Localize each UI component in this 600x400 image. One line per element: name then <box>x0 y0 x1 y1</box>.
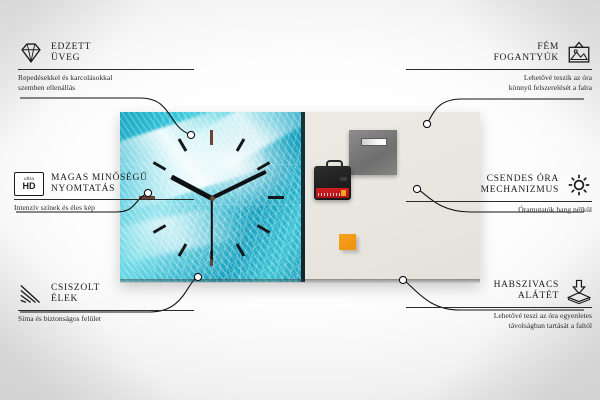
cushion-arrow-icon <box>566 278 592 304</box>
mechanism-dial <box>340 177 347 181</box>
feature-description: Lehetővé teszi az óra egyenletes távolsá… <box>406 311 592 330</box>
mechanism-label-text <box>318 193 340 196</box>
feature-title: EDZETT ÜVEG <box>51 42 91 65</box>
feature-rule <box>406 201 592 202</box>
feature-rule <box>406 69 592 70</box>
feature-header: CSENDES ÓRA MECHANIZMUS <box>406 172 592 198</box>
feature-rule <box>18 69 194 70</box>
glass-seam <box>240 112 241 282</box>
feature-description: Lehetővé teszik az óra könnyű felszerelé… <box>406 73 592 92</box>
feature-header: ultra HD MAGAS MINŐSÉGŰ NYOMTATÁS <box>14 172 194 196</box>
clock-tick-5 <box>236 243 246 257</box>
clock-tick-4 <box>257 224 271 234</box>
feature-header: FÉM FOGANTYÚK <box>406 40 592 66</box>
feature-description: Óramutatók hang nélkül <box>406 205 592 215</box>
clock-mechanism <box>314 166 351 200</box>
ultra-hd-icon: ultra HD <box>14 172 44 196</box>
infographic-canvas: EDZETT ÜVEG Repedésekkel és karcolásokka… <box>0 0 600 400</box>
panel-divider <box>301 112 305 282</box>
feature-foam-pad: HABSZIVACS ALÁTÉT Lehetővé teszi az óra … <box>406 278 592 330</box>
feature-quiet-mechanism: CSENDES ÓRA MECHANIZMUS Óramutatók hang … <box>406 172 592 215</box>
feature-rule <box>406 307 592 308</box>
clock-hub <box>210 196 215 201</box>
feature-header: EDZETT ÜVEG <box>18 40 194 66</box>
clock-tick-10 <box>153 161 167 171</box>
feature-header: CSISZOLT ÉLEK <box>18 281 194 307</box>
feature-rule <box>14 199 194 200</box>
mechanism-label <box>316 188 349 198</box>
clock-tick-11 <box>178 138 188 152</box>
minute-hand <box>211 170 267 200</box>
feature-header: HABSZIVACS ALÁTÉT <box>406 278 592 304</box>
clock-tick-7 <box>178 243 188 257</box>
feature-title: FÉM FOGANTYÚK <box>494 42 559 65</box>
clock-tick-8 <box>153 224 167 234</box>
glass-seam <box>120 164 304 165</box>
diamond-icon <box>18 40 44 66</box>
feature-title: CSISZOLT ÉLEK <box>51 283 100 306</box>
metal-hanger-plate <box>349 130 397 175</box>
feature-title: CSENDES ÓRA MECHANIZMUS <box>481 174 559 197</box>
highlight-streak-2 <box>187 112 304 179</box>
ultra-hd-icon-main: HD <box>23 182 36 191</box>
feature-high-quality-print: ultra HD MAGAS MINŐSÉGŰ NYOMTATÁS Intenz… <box>14 172 194 213</box>
feature-description: Intenzív színek és éles kép <box>14 203 194 213</box>
picture-hanger-icon <box>566 40 592 66</box>
feature-polished-edges: CSISZOLT ÉLEK Sima és biztonságos felüle… <box>18 281 194 324</box>
feature-metal-handles: FÉM FOGANTYÚK Lehetővé teszik az óra kön… <box>406 40 592 92</box>
mechanism-label-mark <box>341 190 346 196</box>
clock-tick-12 <box>210 130 213 145</box>
feature-title: HABSZIVACS ALÁTÉT <box>494 280 559 303</box>
mechanism-hanging-loop <box>326 160 343 170</box>
feature-description: Sima és biztonságos felület <box>18 314 194 324</box>
second-hand <box>211 198 213 260</box>
clock-tick-3 <box>268 196 284 199</box>
hanger-slot <box>361 138 387 146</box>
feature-description: Repedésekkel és karcolásokkal szemben el… <box>18 73 194 92</box>
feature-rule <box>18 310 194 311</box>
gear-icon <box>566 172 592 198</box>
clock-tick-1 <box>236 138 246 152</box>
feature-tempered-glass: EDZETT ÜVEG Repedésekkel és karcolásokka… <box>18 40 194 92</box>
polished-edges-icon <box>18 281 44 307</box>
feature-title: MAGAS MINŐSÉGŰ NYOMTATÁS <box>51 173 148 196</box>
foam-spacer-pad <box>339 234 356 250</box>
